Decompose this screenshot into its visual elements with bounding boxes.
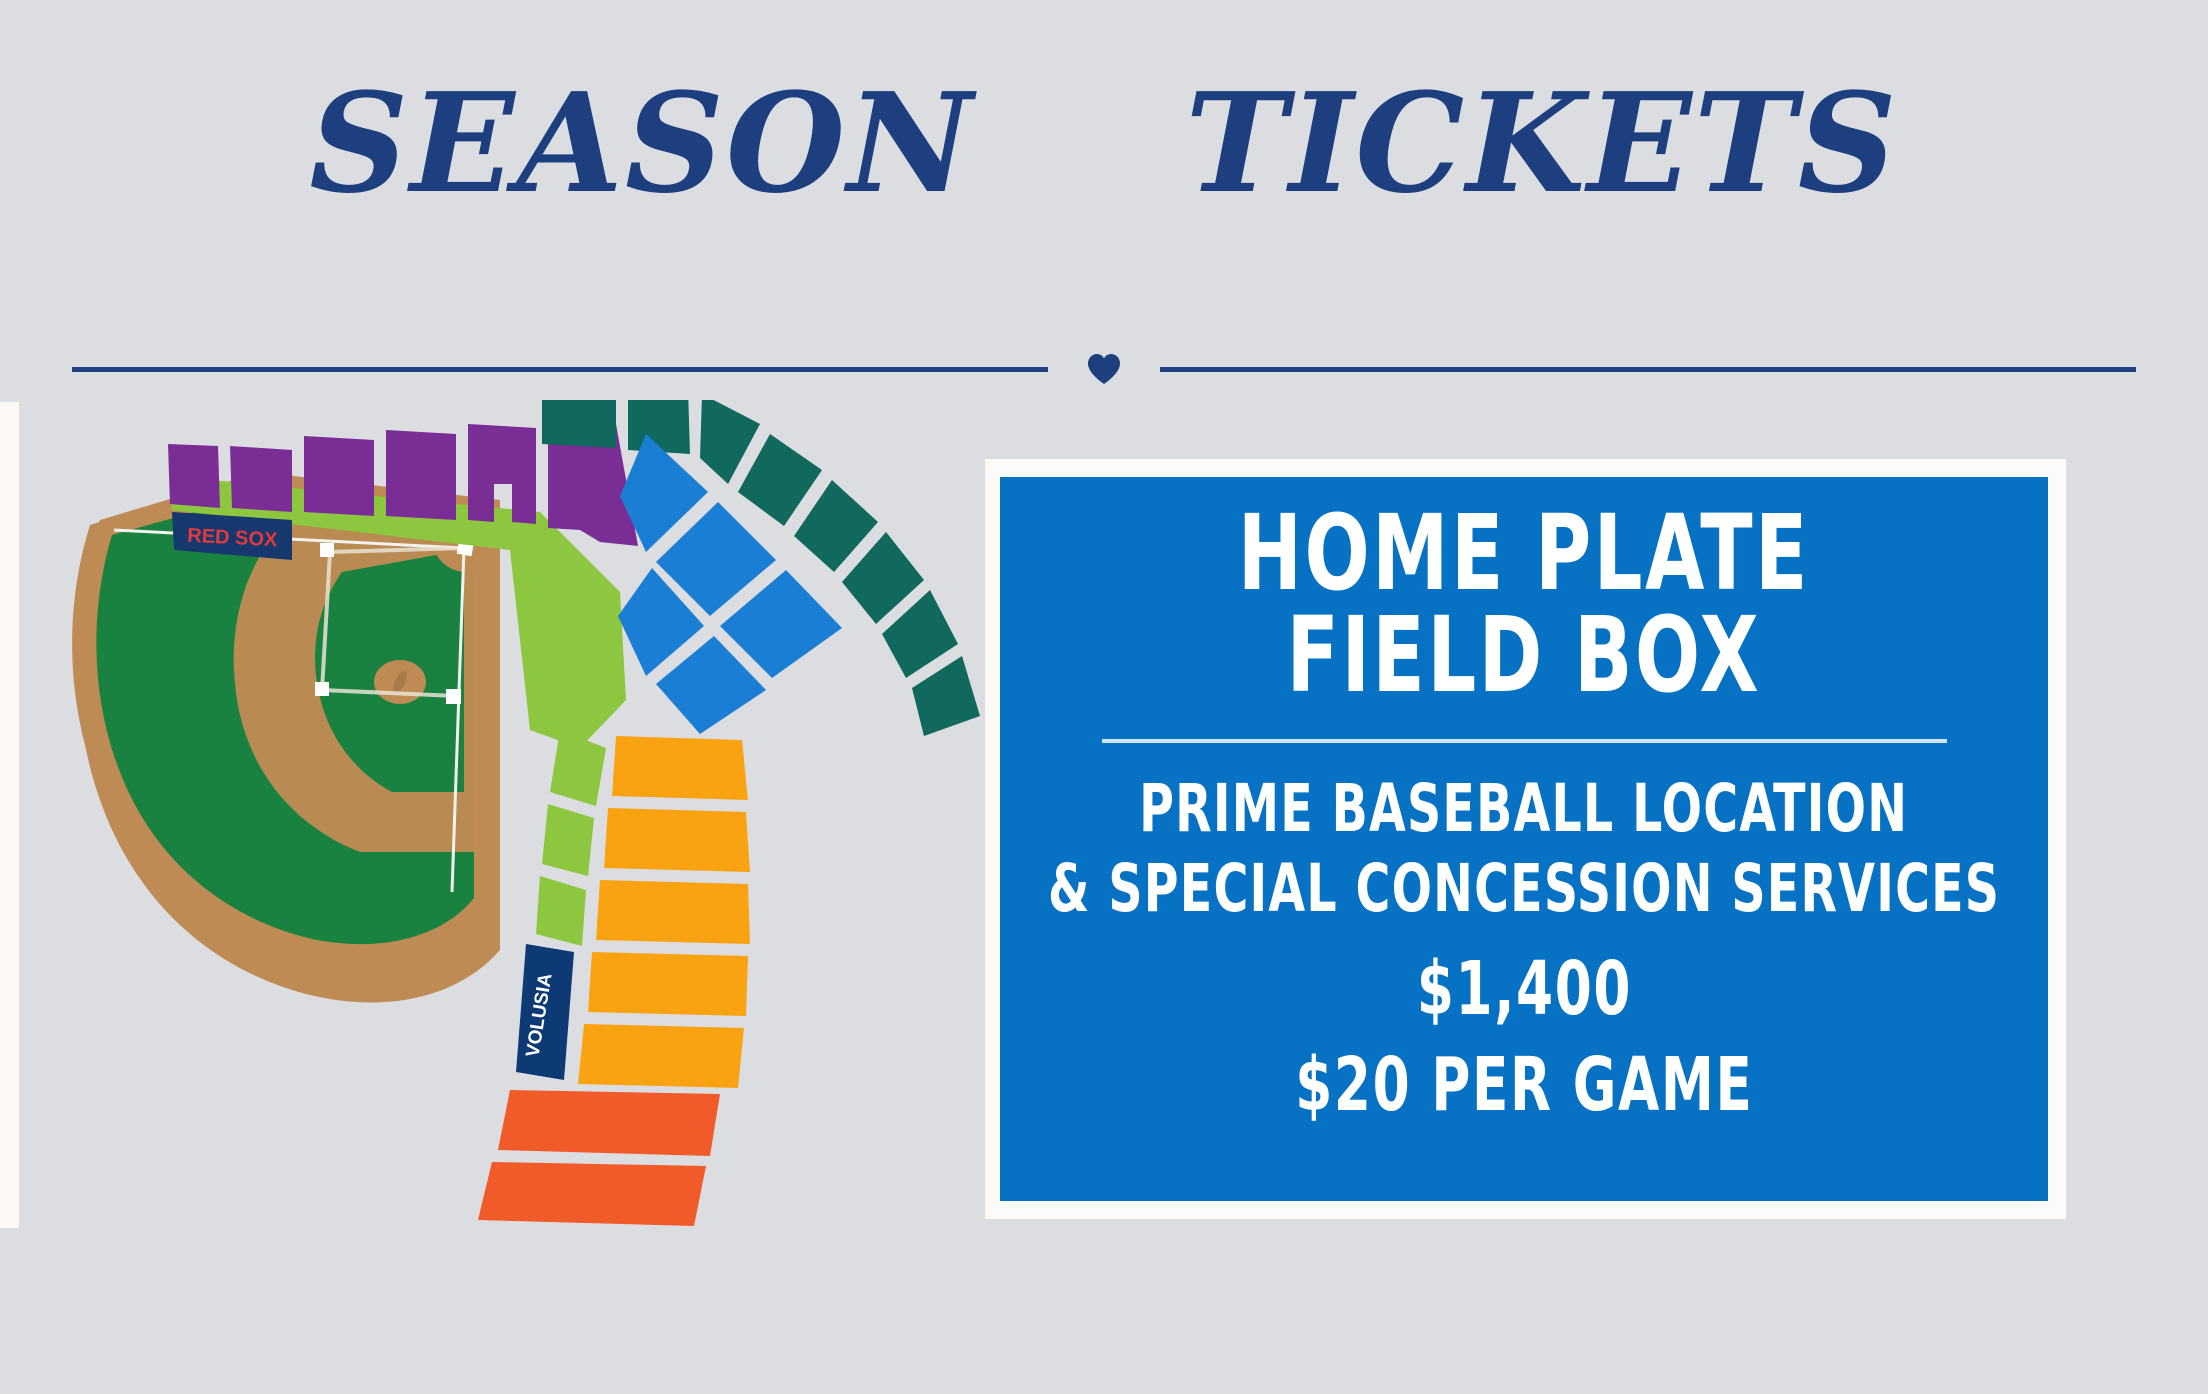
pavilion-section [738, 434, 822, 526]
card-season-price: $1,400 [1416, 944, 1631, 1034]
card-heading: HOME PLATE FIELD BOX [1238, 503, 1810, 707]
home-plate-box-section [498, 1090, 720, 1156]
left-edge-strip [0, 402, 19, 1228]
pavilion-section [628, 400, 690, 454]
upper-deck-section [386, 430, 456, 520]
first-base-marker [320, 543, 334, 557]
lower-club-strip [536, 730, 606, 946]
field-box-sections [578, 736, 750, 1088]
stadium-seating-map[interactable]: RED SOX [60, 400, 980, 1260]
card-heading-line1: HOME PLATE [1238, 503, 1810, 605]
header-divider [72, 345, 2136, 393]
card-divider-rule [1102, 739, 1947, 743]
pavilion-section [542, 400, 616, 448]
field-box-section [578, 1024, 744, 1088]
card-heading-line2: FIELD BOX [1238, 605, 1810, 707]
home-plate-box-section [478, 1162, 706, 1226]
field-box-section [588, 952, 748, 1016]
page-header: Season Tickets [0, 0, 2208, 400]
card-description-line1: PRIME BASEBALL LOCATION [1139, 769, 1908, 850]
field-box-section [604, 808, 750, 872]
ticket-info-card-frame: HOME PLATE FIELD BOX PRIME BASEBALL LOCA… [985, 459, 2066, 1219]
ticket-info-card[interactable]: HOME PLATE FIELD BOX PRIME BASEBALL LOCA… [1000, 477, 2048, 1201]
card-per-game-price: $20 PER GAME [1295, 1040, 1753, 1130]
field-box-section [612, 736, 748, 800]
divider-line-right [1160, 367, 2136, 372]
home-plate-box-sections [478, 1090, 720, 1226]
heart-icon [1048, 353, 1160, 385]
page-title-word-season: Season [309, 8, 974, 238]
page-title-word-tickets: Tickets [1185, 8, 1898, 238]
field-box-section [596, 880, 750, 944]
upper-deck-section [304, 436, 374, 516]
page-title: Season Tickets [0, 18, 2208, 230]
third-base-marker [446, 689, 461, 704]
upper-deck-section [168, 444, 220, 508]
second-base-marker [315, 682, 329, 696]
pavilion-section [912, 656, 980, 736]
upper-deck-section [230, 446, 292, 512]
card-description-line2: & SPECIAL CONCESSION SERVICES [1048, 849, 2000, 930]
vertical-banner: VOLUSIA [516, 944, 574, 1080]
divider-line-left [72, 367, 1048, 372]
